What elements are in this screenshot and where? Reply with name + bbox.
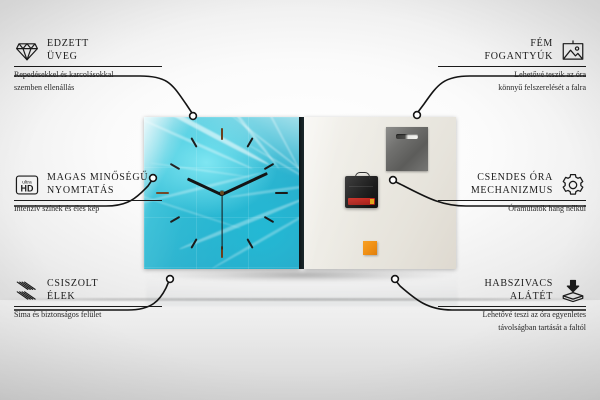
- callout-foam-pad[interactable]: HABSZIVACS ALÁTÉT Lehetővé teszi az óra …: [438, 278, 586, 333]
- callout-desc-line1: Lehetővé teszi az óra egyenletes: [438, 310, 586, 320]
- callout-silent-mechanism[interactable]: CSENDES ÓRA MECHANIZMUS Óramutatók hang …: [438, 172, 586, 214]
- callout-desc-line1: Repedésekkel és karcolásokkal: [14, 70, 162, 80]
- callout-title-line1: MAGAS MINŐSÉGŰ: [47, 172, 148, 185]
- infographic-canvas: EDZETT ÜVEG Repedésekkel és karcolásokka…: [0, 0, 600, 400]
- callout-divider: [14, 306, 162, 307]
- callout-polished-edges[interactable]: CSISZOLT ÉLEK Sima és biztonságos felüle…: [14, 278, 162, 320]
- callout-divider: [14, 200, 162, 201]
- callout-title-line2: ALÁTÉT: [485, 291, 554, 304]
- callout-hd-print[interactable]: ultra HD MAGAS MINŐSÉGŰ NYOMTATÁS Intenz…: [14, 172, 162, 214]
- callout-desc-line1: Intenzív színek és éles kép: [14, 204, 162, 214]
- callout-divider: [438, 306, 586, 307]
- callout-metal-handles[interactable]: FÉM FOGANTYÚK Lehetővé teszik az óra kön…: [438, 38, 586, 93]
- callout-title-line2: FOGANTYÚK: [484, 51, 553, 64]
- callout-title-line1: CSISZOLT: [47, 278, 98, 291]
- callout-title-line2: MECHANIZMUS: [471, 185, 553, 198]
- callout-desc-line2: könnyű felszerelését a falra: [438, 83, 586, 93]
- clock-back-panel: [304, 117, 456, 269]
- callout-desc-line1: Lehetővé teszik az óra: [438, 70, 586, 80]
- callout-divider: [438, 200, 586, 201]
- foam-pad-arrow-icon: [560, 279, 586, 303]
- ultra-hd-icon: ultra HD: [14, 173, 40, 197]
- callout-title-line2: ÉLEK: [47, 291, 98, 304]
- back-panel-gloss: [304, 117, 456, 269]
- product-image: [144, 117, 456, 269]
- callout-title-line1: CSENDES ÓRA: [471, 172, 553, 185]
- callout-title-line1: HABSZIVACS: [485, 278, 554, 291]
- callout-title-line2: ÜVEG: [47, 51, 89, 64]
- glass-gloss: [144, 117, 300, 269]
- callout-desc-line1: Óramutatók hang nélkül: [438, 204, 586, 214]
- callout-desc-line2: szemben ellenállás: [14, 83, 162, 93]
- ultra-hd-icon-big-text: HD: [21, 183, 34, 193]
- callout-tempered-glass[interactable]: EDZETT ÜVEG Repedésekkel és karcolásokka…: [14, 38, 162, 93]
- callout-desc-line1: Sima és biztonságos felület: [14, 310, 162, 320]
- callout-title-line1: EDZETT: [47, 38, 89, 51]
- diamond-icon: [14, 39, 40, 63]
- clock-front-panel: [144, 117, 300, 269]
- callout-divider: [438, 66, 586, 67]
- picture-frame-icon: [560, 39, 586, 63]
- callout-desc-line2: távolságban tartását a faltól: [438, 323, 586, 333]
- callout-title-line1: FÉM: [484, 38, 553, 51]
- polished-edges-icon: [14, 279, 40, 303]
- gear-icon: [560, 173, 586, 197]
- callout-divider: [14, 66, 162, 67]
- callout-title-line2: NYOMTATÁS: [47, 185, 148, 198]
- product-reflection: [146, 272, 458, 306]
